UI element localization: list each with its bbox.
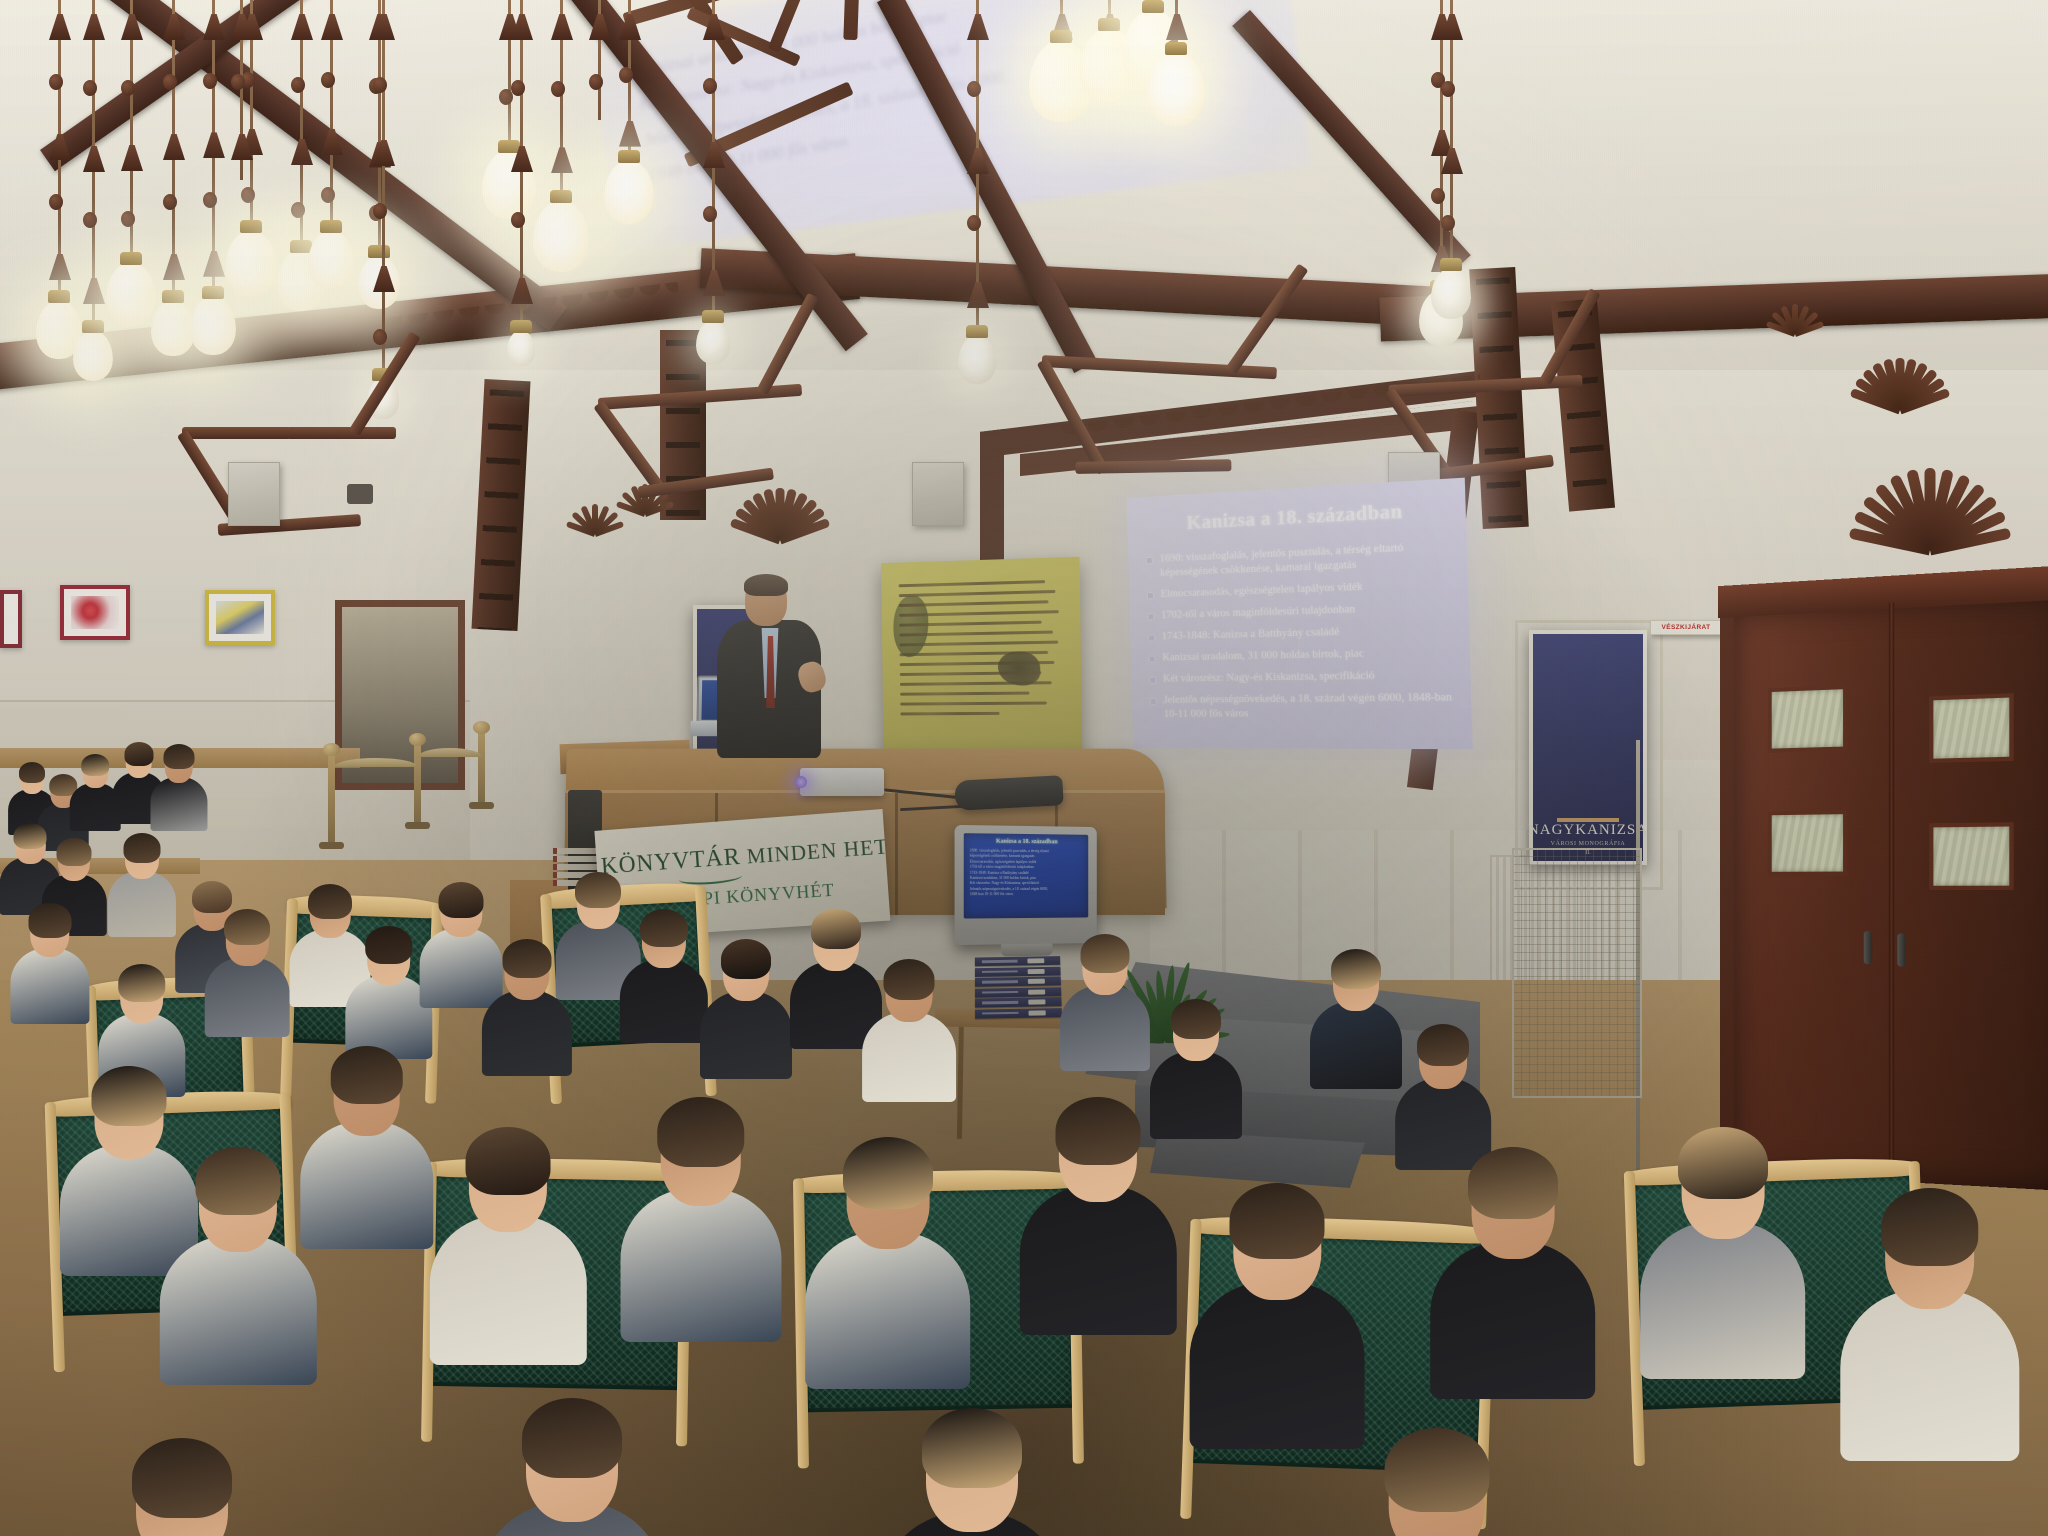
chandelier-bell-ornament bbox=[967, 81, 981, 97]
lamp-cap bbox=[82, 320, 104, 333]
audience-hair bbox=[1056, 1097, 1141, 1165]
audience-member bbox=[300, 1040, 433, 1258]
audience-member bbox=[1640, 1120, 1806, 1390]
audience-member bbox=[880, 1400, 1064, 1536]
chandelier-bell-ornament bbox=[511, 80, 525, 96]
chandelier-bell-ornament bbox=[163, 194, 177, 210]
audience-member bbox=[1190, 1175, 1365, 1460]
audience-hair bbox=[57, 838, 92, 866]
lamp-cap bbox=[202, 286, 224, 299]
lamp-cap bbox=[498, 140, 520, 153]
door-glass-pane bbox=[1768, 685, 1847, 753]
ceiling-projector-mount bbox=[347, 484, 373, 504]
audience-torso bbox=[620, 959, 708, 1043]
chandelier-bell-ornament bbox=[551, 81, 565, 97]
chandelier-bell-ornament bbox=[1441, 215, 1455, 231]
poster-grid-panel bbox=[1512, 848, 1642, 1098]
audience-torso bbox=[430, 1215, 586, 1365]
audience-member bbox=[160, 1140, 316, 1395]
audience-torso bbox=[1190, 1281, 1365, 1448]
door-seam bbox=[1889, 602, 1894, 1181]
poster-title: NAGYKANIZSA bbox=[1528, 822, 1648, 839]
audience-torso bbox=[1640, 1221, 1806, 1379]
slide-bullet: Két városrész: Nagy-és Kiskanizsa, speci… bbox=[1149, 668, 1455, 687]
presenter-hair bbox=[744, 574, 788, 596]
audience-member bbox=[1430, 1140, 1596, 1410]
audience-hair bbox=[811, 909, 861, 949]
tv-slide-title: Kanizsa a 18. században bbox=[970, 838, 1083, 845]
audience-hair bbox=[657, 1097, 745, 1167]
manuscript-facsimile-poster bbox=[881, 557, 1082, 771]
audience-hair bbox=[1230, 1183, 1325, 1259]
audience-hair bbox=[721, 939, 771, 979]
audience-member bbox=[150, 742, 207, 835]
audience-hair bbox=[330, 1046, 403, 1104]
lamp-cap bbox=[1142, 0, 1164, 13]
lamp-cap bbox=[162, 290, 184, 303]
audience-torso bbox=[150, 777, 207, 832]
audience-member bbox=[1310, 945, 1402, 1095]
door-glass-pane bbox=[1768, 810, 1847, 876]
audience-hair bbox=[1171, 999, 1221, 1039]
audience-member bbox=[1060, 930, 1150, 1077]
slide-bullet: Kanizsai uradalom, 31 000 holdas birtok,… bbox=[1148, 645, 1454, 666]
framed-picture-edge bbox=[0, 590, 22, 648]
chandelier-bell-ornament bbox=[83, 80, 97, 96]
audience-member bbox=[805, 1130, 971, 1400]
slide-bullet-list: 1690: visszafoglalás, jelentős pusztulás… bbox=[1146, 539, 1456, 722]
chandelier-cord bbox=[382, 0, 385, 378]
chandelier-globe-lamp bbox=[1431, 268, 1471, 319]
audience-hair bbox=[124, 742, 153, 765]
slide-bullet: 1743-1848: Kanizsa a Batthyány családé bbox=[1148, 622, 1454, 644]
audience-hair bbox=[1331, 949, 1381, 989]
audience-torso bbox=[862, 1012, 956, 1102]
lamp-cap bbox=[120, 252, 142, 265]
audience-torso bbox=[108, 871, 176, 936]
chandelier-bell-ornament bbox=[703, 78, 717, 94]
audience-hair bbox=[466, 1127, 551, 1195]
audience-hair bbox=[843, 1137, 933, 1209]
audience-hair bbox=[82, 754, 110, 776]
slide-bullet: Jelentős népességnövekedés, a 18. század… bbox=[1150, 691, 1456, 722]
chandelier-globe-lamp bbox=[507, 330, 535, 366]
audience-hair bbox=[1678, 1127, 1768, 1199]
presenter-speaker bbox=[713, 576, 823, 756]
chandelier-globe-lamp bbox=[958, 335, 996, 384]
audience-torso bbox=[700, 991, 792, 1079]
audience-torso bbox=[620, 1188, 781, 1342]
lamp-cap bbox=[510, 320, 532, 333]
audience-torso bbox=[1020, 1185, 1176, 1335]
wall-speaker bbox=[228, 462, 280, 526]
audience-member bbox=[1340, 1420, 1533, 1536]
audience-torso bbox=[1310, 1001, 1402, 1089]
lamp-cap bbox=[240, 220, 262, 233]
audience-torso bbox=[1430, 1241, 1596, 1399]
audience-torso bbox=[10, 948, 89, 1024]
chandelier-bell-ornament bbox=[589, 74, 603, 90]
chandelier-globe-lamp bbox=[308, 230, 354, 289]
lamp-cap bbox=[48, 290, 70, 303]
audience-torso bbox=[805, 1231, 971, 1389]
chandelier-pentagon-frame bbox=[594, 331, 806, 521]
tv-screen: Kanizsa a 18. században 1690: visszafogl… bbox=[964, 833, 1088, 918]
chandelier-globe-lamp bbox=[73, 330, 113, 381]
audience-member bbox=[480, 1390, 664, 1536]
laptop-bag bbox=[954, 775, 1063, 811]
chandelier-bell-ornament bbox=[163, 74, 177, 90]
emergency-exit-sign: VÉSZKIJÁRAT bbox=[1650, 620, 1722, 635]
chandelier-bell-ornament bbox=[373, 77, 387, 93]
chandelier-pentagon-frame bbox=[182, 372, 392, 557]
audience-member bbox=[700, 935, 792, 1085]
audience-member bbox=[1840, 1180, 2019, 1473]
slide-bullet: Elmocsarasodás, egészségtelen lapályos v… bbox=[1147, 577, 1452, 602]
carved-door-fan-ornament bbox=[1830, 380, 2030, 550]
audience-member bbox=[1020, 1090, 1176, 1345]
poster-artwork bbox=[1557, 818, 1619, 822]
audience-torso bbox=[205, 957, 290, 1038]
chandelier-bell-ornament bbox=[291, 202, 305, 218]
lamp-cap bbox=[618, 150, 640, 163]
audience-hair bbox=[1417, 1024, 1469, 1066]
audience-hair bbox=[883, 959, 934, 1000]
audience-hair bbox=[163, 744, 194, 769]
door-handle-left[interactable] bbox=[1864, 931, 1872, 964]
audience-hair bbox=[575, 872, 621, 909]
lamp-cap bbox=[550, 190, 572, 203]
framed-picture-lemons bbox=[205, 590, 275, 645]
audience-member bbox=[90, 1430, 274, 1536]
chandelier-pentagon-frame bbox=[1035, 294, 1275, 508]
chandelier-bell-ornament bbox=[49, 194, 63, 210]
audience-hair bbox=[308, 884, 352, 919]
door-glass-pane bbox=[1929, 693, 2014, 763]
chandelier-bell-ornament bbox=[321, 72, 335, 88]
chandelier-bell-ornament bbox=[203, 192, 217, 208]
audience-member bbox=[10, 900, 89, 1029]
chandelier-bell-ornament bbox=[291, 77, 305, 93]
lecture-hall-photo: Kanizsai uradalom, 31 000 holdas birtok,… bbox=[0, 0, 2048, 1536]
chandelier-bell-ornament bbox=[231, 74, 245, 90]
audience-torso bbox=[1060, 985, 1150, 1071]
audience-hair bbox=[118, 964, 166, 1002]
poster-nagykanizsa-right: NAGYKANIZSA VÁROSI MONOGRÁFIA II. bbox=[1529, 630, 1647, 865]
audience-hair bbox=[1384, 1428, 1489, 1512]
chandelier-bell-ornament bbox=[241, 187, 255, 203]
audience-torso bbox=[300, 1121, 433, 1249]
video-projector[interactable] bbox=[800, 768, 884, 796]
lamp-cap bbox=[1440, 258, 1462, 271]
tv-slide-line: 1848-ban 10-11 000 fős város bbox=[970, 892, 1083, 898]
lamp-cap bbox=[320, 220, 342, 233]
audience-hair bbox=[28, 903, 71, 937]
projection-screen: Kanizsa a 18. században 1690: visszafogl… bbox=[1127, 478, 1473, 750]
slide-bullet: 1702-től a város maginföldesúri tulajdon… bbox=[1147, 600, 1452, 624]
door-handle-right[interactable] bbox=[1897, 933, 1905, 966]
projector-lens bbox=[795, 776, 807, 788]
slide-title: Kanizsa a 18. században bbox=[1145, 498, 1450, 537]
audience-hair bbox=[224, 909, 270, 946]
chandelier-bell-ornament bbox=[121, 80, 135, 96]
audience-hair bbox=[92, 1066, 167, 1126]
carved-sunburst-ornament bbox=[1760, 270, 1830, 334]
tv-stand bbox=[1001, 944, 1052, 957]
audience-hair bbox=[922, 1408, 1022, 1488]
rope-stanchion bbox=[478, 730, 485, 804]
audience-hair bbox=[1881, 1188, 1979, 1266]
audience-member bbox=[620, 1090, 781, 1353]
lamp-cap bbox=[1165, 42, 1187, 55]
chandelier-bell-ornament bbox=[49, 74, 63, 90]
door-glass-pane bbox=[1929, 822, 2014, 890]
lamp-cap bbox=[1098, 18, 1120, 31]
lamp-cap bbox=[368, 245, 390, 258]
slide-bullet: 1690: visszafoglalás, jelentős pusztulás… bbox=[1146, 539, 1452, 581]
audience-torso bbox=[160, 1235, 316, 1385]
lamp-cap bbox=[1050, 30, 1072, 43]
chandelier-bell-ornament bbox=[373, 203, 387, 219]
poster-subtitle: VÁROSI MONOGRÁFIA bbox=[1551, 841, 1626, 847]
chandelier-bell-ornament bbox=[121, 211, 135, 227]
audience-member bbox=[108, 830, 176, 941]
chandelier-bell-ornament bbox=[967, 215, 981, 231]
audience-hair bbox=[132, 1438, 232, 1518]
chandelier-bell-ornament bbox=[373, 329, 387, 345]
chandelier-globe-lamp bbox=[190, 296, 236, 355]
audience-hair bbox=[1468, 1147, 1558, 1219]
audience-hair bbox=[522, 1398, 622, 1478]
audience-hair bbox=[503, 939, 552, 978]
hall-entrance-door[interactable] bbox=[1720, 593, 2048, 1191]
wall-speaker bbox=[912, 462, 964, 526]
lamp-cap bbox=[702, 310, 724, 323]
chandelier-globe-lamp bbox=[151, 300, 195, 356]
audience-member bbox=[620, 905, 708, 1049]
audience-hair bbox=[640, 909, 688, 947]
audience-member bbox=[205, 905, 290, 1043]
framed-picture-flowers bbox=[60, 585, 130, 640]
emergency-exit-label: VÉSZKIJÁRAT bbox=[1661, 624, 1710, 631]
audience-torso bbox=[1840, 1289, 2019, 1461]
audience-hair bbox=[1081, 934, 1130, 973]
audience-hair bbox=[439, 882, 484, 918]
audience-hair bbox=[196, 1147, 281, 1215]
chandelier-bell-ornament bbox=[321, 187, 335, 203]
audience-member bbox=[430, 1120, 586, 1375]
chandelier-bell-ornament bbox=[83, 212, 97, 228]
chandelier-bell-ornament bbox=[1441, 81, 1455, 97]
audience-hair bbox=[124, 833, 161, 863]
chandelier-bell-ornament bbox=[703, 206, 717, 222]
audience-member bbox=[862, 955, 956, 1108]
lamp-cap bbox=[966, 325, 988, 338]
chandelier-bell-ornament bbox=[511, 212, 525, 228]
book-stack-monograph bbox=[975, 956, 1062, 1019]
chandelier-bell-ornament bbox=[1431, 188, 1445, 204]
audience-hair bbox=[365, 926, 413, 964]
